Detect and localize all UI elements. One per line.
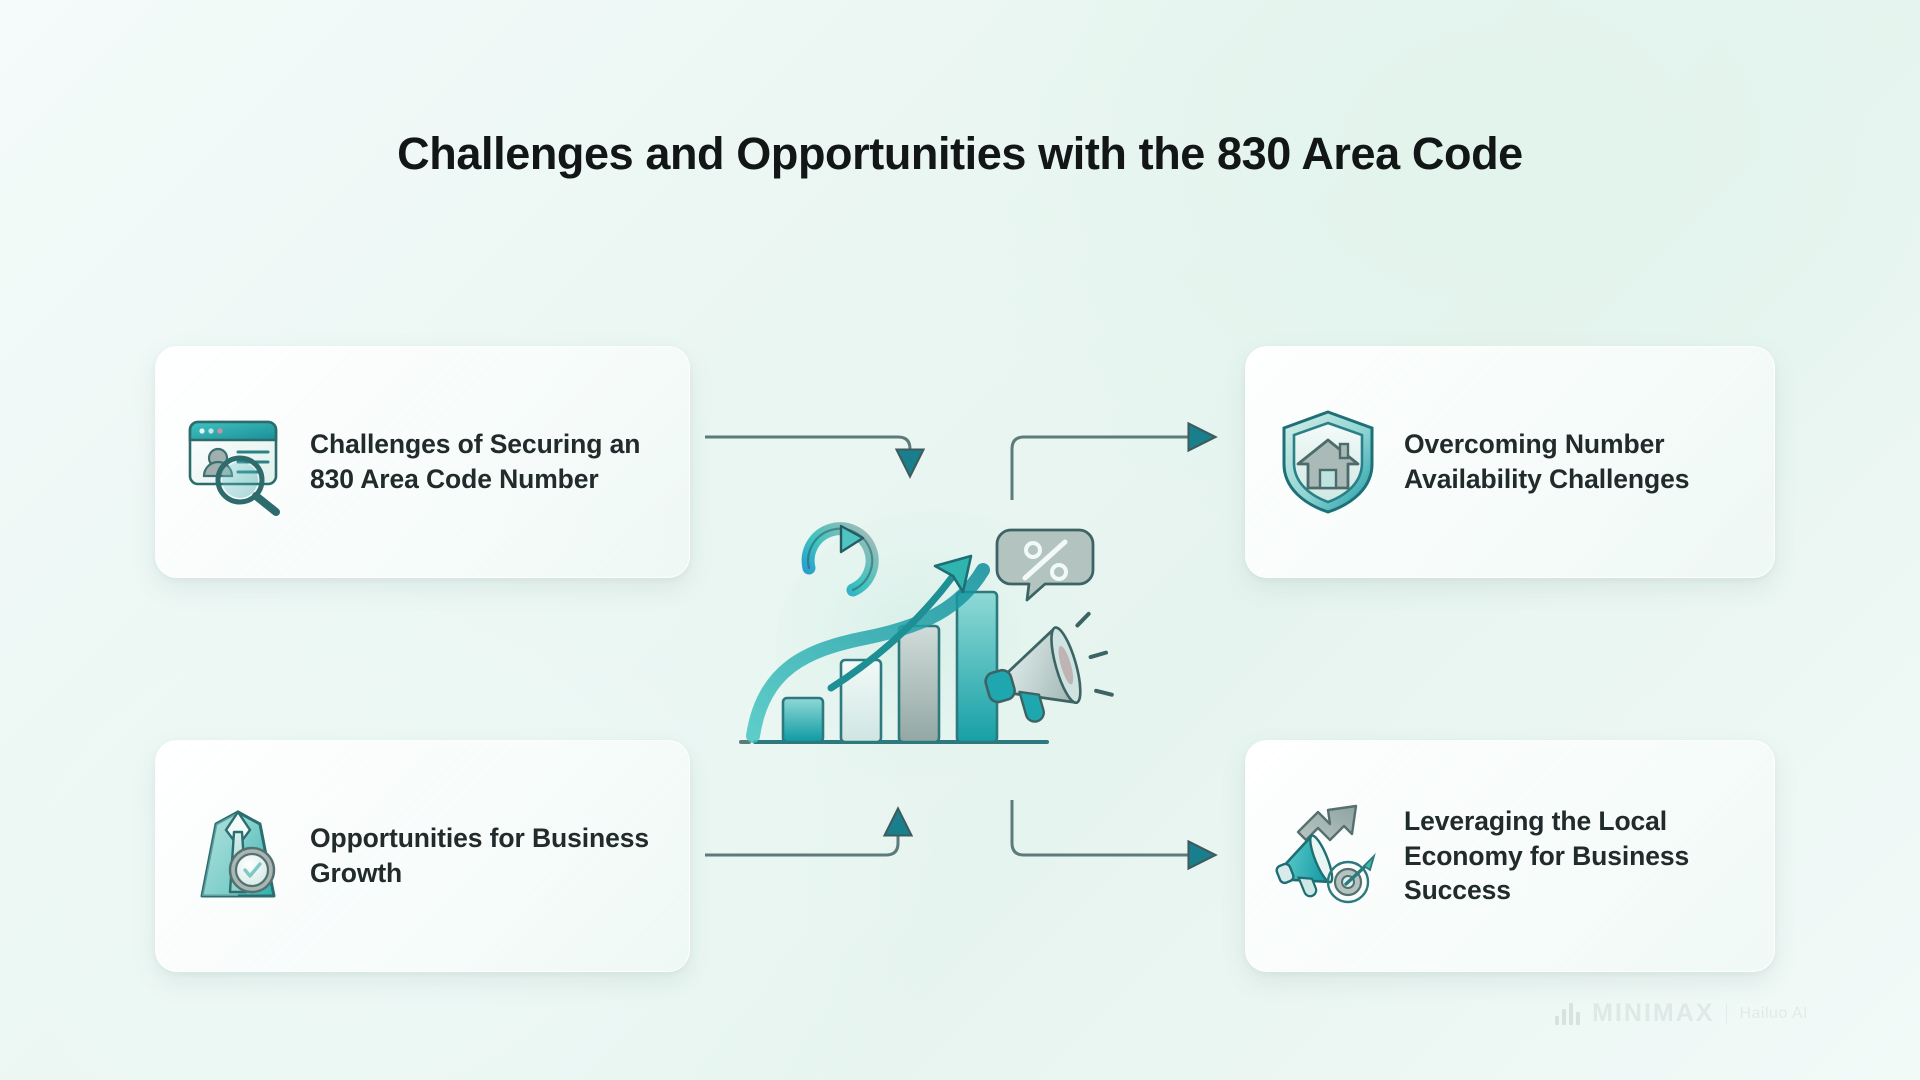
card-label: Challenges of Securing an 830 Area Code … (310, 427, 663, 497)
minimax-logo-icon (1555, 1003, 1580, 1025)
browser-window-profile-search-icon (182, 406, 294, 518)
shield-home-icon (1272, 406, 1384, 518)
infographic-canvas: Challenges and Opportunities with the 83… (0, 0, 1920, 1080)
connector-top-left-to-center (705, 437, 910, 463)
business-growth-illustration (735, 500, 1185, 800)
suit-award-badge-icon (182, 800, 294, 912)
watermark-divider (1726, 1004, 1727, 1024)
card-challenges-securing[interactable]: Challenges of Securing an 830 Area Code … (155, 346, 690, 578)
card-label: Overcoming Number Availability Challenge… (1400, 427, 1748, 497)
watermark-sub: Hailuo AI (1739, 1005, 1808, 1023)
megaphone-growth-target-icon (1272, 800, 1384, 912)
connector-bottom-left-to-center (705, 822, 898, 855)
page-title: Challenges and Opportunities with the 83… (0, 128, 1920, 180)
watermark: MINIMAX Hailuo AI (1555, 999, 1808, 1028)
card-label: Leveraging the Local Economy for Busines… (1400, 804, 1748, 909)
connector-center-to-top-right (1012, 437, 1202, 500)
card-business-growth[interactable]: Opportunities for Business Growth (155, 740, 690, 972)
card-local-economy[interactable]: Leveraging the Local Economy for Busines… (1245, 740, 1775, 972)
watermark-brand: MINIMAX (1592, 999, 1714, 1028)
card-label: Opportunities for Business Growth (310, 821, 663, 891)
card-overcoming-availability[interactable]: Overcoming Number Availability Challenge… (1245, 346, 1775, 578)
connector-center-to-bottom-right (1012, 800, 1202, 855)
